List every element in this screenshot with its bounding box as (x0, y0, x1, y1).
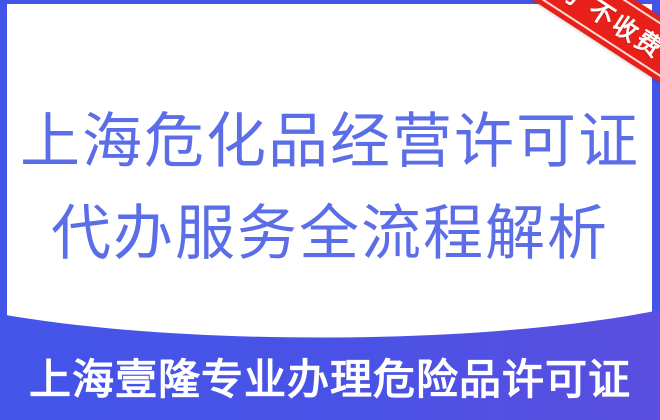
promo-poster: 上海危化品经营许可证 代办服务全流程解析 上海壹隆专业办理危险品许可证 不成功 … (0, 0, 660, 420)
headline-line-2: 代办服务全流程解析 (0, 188, 660, 280)
headline-line-1: 上海危化品经营许可证 (0, 96, 660, 188)
footer-slogan: 上海壹隆专业办理危险品许可证 (0, 354, 660, 406)
headline-block: 上海危化品经营许可证 代办服务全流程解析 (0, 96, 660, 280)
